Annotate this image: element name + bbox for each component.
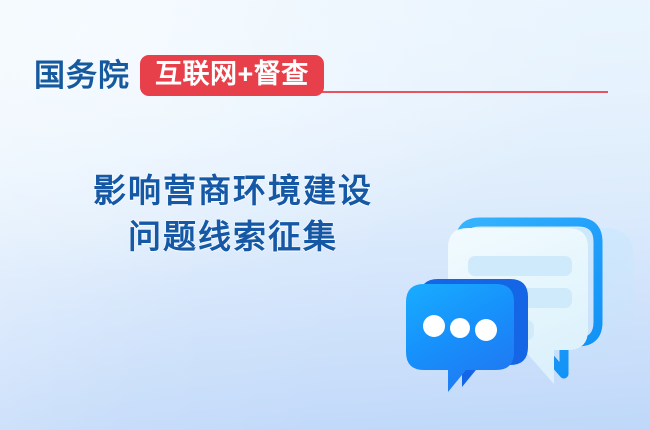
blue-typing-bubble: [406, 284, 514, 392]
banner-root: 国务院 互联网+督查 影响营商环境建设 问题线索征集: [0, 0, 650, 430]
program-badge-label: 互联网+督查: [155, 61, 309, 88]
gov-name-label: 国务院: [34, 60, 130, 91]
typing-dot-1: [423, 315, 445, 337]
page-title-line-1: 影响营商环境建设: [28, 168, 438, 214]
program-badge: 互联网+督查: [140, 55, 324, 96]
message-line-bar-1: [468, 256, 572, 276]
header: 国务院 互联网+督查: [34, 54, 324, 96]
typing-dot-3: [475, 319, 497, 341]
header-divider-rule: [293, 91, 608, 93]
page-title-line-2: 问题线索征集: [28, 214, 438, 260]
typing-dot-2: [450, 318, 470, 338]
page-title: 影响营商环境建设 问题线索征集: [28, 168, 438, 260]
